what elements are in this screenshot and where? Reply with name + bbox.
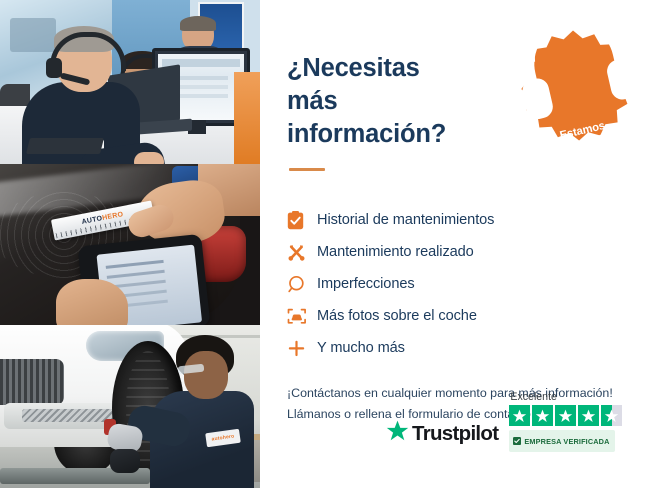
- star-icon: [509, 405, 530, 426]
- tyre-inspection-photo: autohero: [0, 325, 260, 488]
- information-banner: AUTOHERO a: [0, 0, 650, 488]
- feature-label: Y mucho más: [317, 340, 405, 356]
- trustpilot-logo: Trustpilot: [386, 420, 498, 452]
- feature-label: Historial de mantenimientos: [317, 212, 494, 228]
- front-grille: [0, 359, 64, 405]
- magnifier-icon: [287, 275, 317, 294]
- verified-company-label: EMPRESA VERIFICADA: [524, 437, 609, 446]
- feature-label: Imperfecciones: [317, 276, 415, 292]
- inspector-hand-holding-tablet: [56, 279, 128, 325]
- trustpilot-score-block: Excelente: [509, 391, 622, 452]
- star-icon: [555, 405, 576, 426]
- trustpilot-rating[interactable]: Trustpilot Excelente: [386, 391, 622, 452]
- trustpilot-stars: [509, 405, 622, 426]
- content-panel: ¿Necesitas más información? Estamos: [260, 0, 650, 488]
- car-photo-frame-icon: [287, 307, 317, 326]
- promo-starburst-badge: Estamos encantados de darte más informac…: [512, 29, 634, 151]
- trustpilot-wordmark: Trustpilot: [412, 422, 498, 446]
- technician-head: [184, 351, 228, 399]
- agent-hair: [180, 16, 216, 31]
- feature-label: Mantenimiento realizado: [317, 244, 474, 260]
- clipboard-check-icon: [287, 211, 317, 230]
- feature-item-imperfections: Imperfecciones: [287, 268, 587, 300]
- feature-label: Más fotos sobre el coche: [317, 308, 477, 324]
- technician: autohero: [150, 335, 254, 488]
- photo-column: AUTOHERO a: [0, 0, 260, 488]
- star-icon-half: [601, 405, 622, 426]
- keyboard: [26, 138, 104, 154]
- page-title: ¿Necesitas más información?: [287, 52, 502, 151]
- headline-line-1: ¿Necesitas: [287, 52, 502, 85]
- plus-icon: [287, 339, 317, 358]
- car-inspection-ruler-photo: AUTOHERO: [0, 164, 260, 325]
- feature-list: Historial de mantenimientos M: [287, 204, 587, 364]
- star-icon: [578, 405, 599, 426]
- title-underline-accent: [289, 168, 325, 171]
- uniform-logo-text: autohero: [211, 433, 235, 442]
- verified-check-icon: [513, 432, 521, 450]
- verified-company-badge: EMPRESA VERIFICADA: [509, 430, 614, 452]
- orange-shelf: [234, 72, 260, 164]
- trustpilot-rating-label: Excelente: [510, 391, 557, 403]
- feature-item-maintenance-history: Historial de mantenimientos: [287, 204, 587, 236]
- trustpilot-star-icon: [386, 420, 409, 447]
- feature-item-more-photos: Más fotos sobre el coche: [287, 300, 587, 332]
- call-center-agents-photo: [0, 0, 260, 164]
- feature-item-much-more: Y mucho más: [287, 332, 587, 364]
- headline-line-2: más información?: [287, 85, 502, 151]
- badge-line-4: información: [543, 151, 639, 185]
- crossed-tools-icon: [287, 243, 317, 262]
- feature-item-maintenance-done: Mantenimiento realizado: [287, 236, 587, 268]
- star-icon: [532, 405, 553, 426]
- work-glove-second: [110, 449, 140, 473]
- ruler-brand-text: AUTOHERO: [81, 211, 124, 226]
- agent-hand: [134, 152, 164, 164]
